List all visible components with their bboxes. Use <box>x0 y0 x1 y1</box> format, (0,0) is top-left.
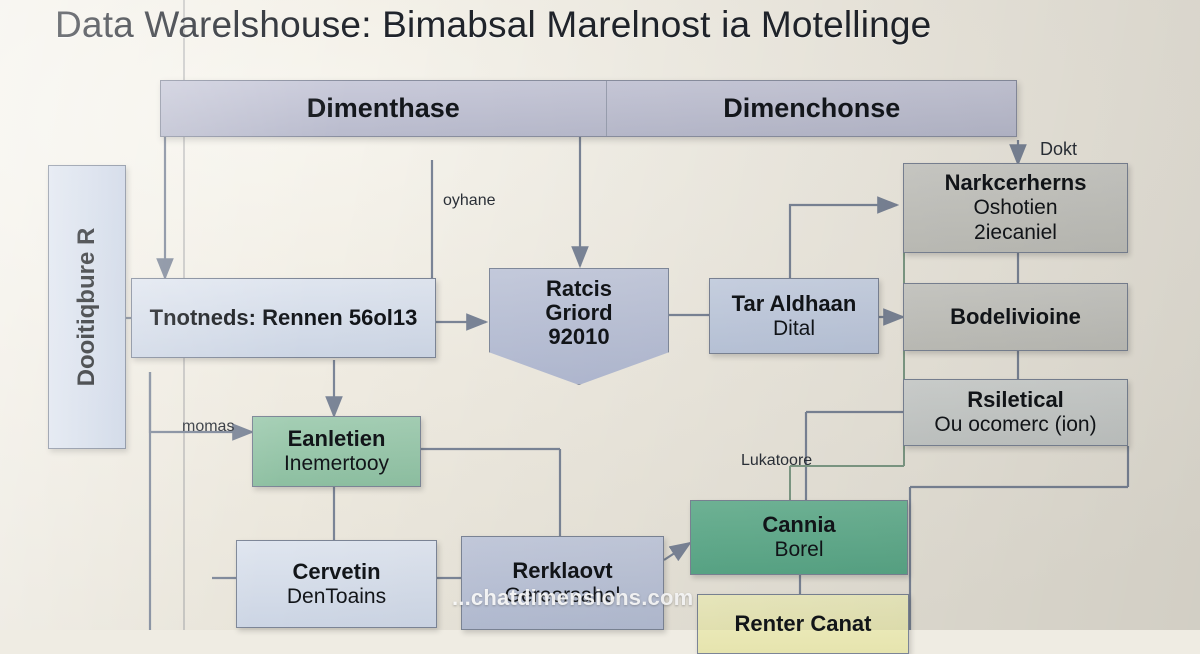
edge-label-momas: momas <box>182 418 234 436</box>
node-vertical-architecture[interactable]: Dooitiqbure R <box>48 165 126 449</box>
edge-label-oyhane: oyhane <box>443 192 496 210</box>
node-statistic-line1: Rsiletical <box>967 387 1064 413</box>
node-inventory-line1: Eanletien <box>288 426 386 452</box>
edge-label-dokt: Dokt <box>1040 139 1077 160</box>
edge-label-lukatoore: Lukatoore <box>741 452 812 470</box>
node-markers-line2: Oshotien <box>973 196 1057 221</box>
node-tar-line1: Tar Aldhaan <box>732 291 857 317</box>
node-statistic[interactable]: Rsiletical Ou ocomerc (ion) <box>903 379 1128 446</box>
node-inventory-line2: Inemertooy <box>284 452 389 477</box>
node-model-line1: Bodelivioine <box>950 304 1081 330</box>
node-cervetin-line1: Cervetin <box>292 559 380 585</box>
node-statistic-line2: Ou ocomerc (ion) <box>934 413 1096 438</box>
node-deploy[interactable]: Rerklaovt Gereorsahel <box>461 536 664 630</box>
band-label-right: Dimenchonse <box>606 81 1017 136</box>
node-facts-line1: Ratcis <box>546 277 612 301</box>
node-inventory[interactable]: Eanletien Inemertooy <box>252 416 421 487</box>
node-cervetin[interactable]: Cervetin DenToains <box>236 540 437 628</box>
node-renter[interactable]: Renter Canat <box>697 594 909 654</box>
node-markers-line3: 2iecaniel <box>974 221 1057 246</box>
node-model[interactable]: Bodelivioine <box>903 283 1128 351</box>
node-threads[interactable]: Tnotneds: Rennen 56ol13 <box>131 278 436 358</box>
node-cervetin-line2: DenToains <box>287 585 386 610</box>
node-cannia-line2: Borel <box>774 538 823 563</box>
header-band: Dimenthase Dimenchonse <box>160 80 1017 137</box>
node-facts-line2: Griord <box>545 301 612 325</box>
band-label-left: Dimenthase <box>161 81 606 136</box>
diagram-canvas: Data Warelshouse: Bimabsal Marelnost ia … <box>0 0 1200 630</box>
page-title: Data Warelshouse: Bimabsal Marelnost ia … <box>55 4 931 46</box>
node-tar-line2: Dital <box>773 317 815 342</box>
node-vertical-label: Dooitiqbure R <box>73 228 101 387</box>
node-markers[interactable]: Narkcerherns Oshotien 2iecaniel <box>903 163 1128 253</box>
node-tar-aldhaan[interactable]: Tar Aldhaan Dital <box>709 278 879 354</box>
node-cannia[interactable]: Cannia Borel <box>690 500 908 575</box>
node-cannia-line1: Cannia <box>762 512 835 538</box>
node-threads-line1: Tnotneds: Rennen 56ol13 <box>150 305 418 331</box>
node-renter-line1: Renter Canat <box>735 611 872 637</box>
node-markers-line1: Narkcerherns <box>945 170 1087 196</box>
node-deploy-line1: Rerklaovt <box>512 558 612 584</box>
watermark: ...chatdimensions.com <box>452 585 693 611</box>
node-facts-line3: 92010 <box>548 325 609 349</box>
